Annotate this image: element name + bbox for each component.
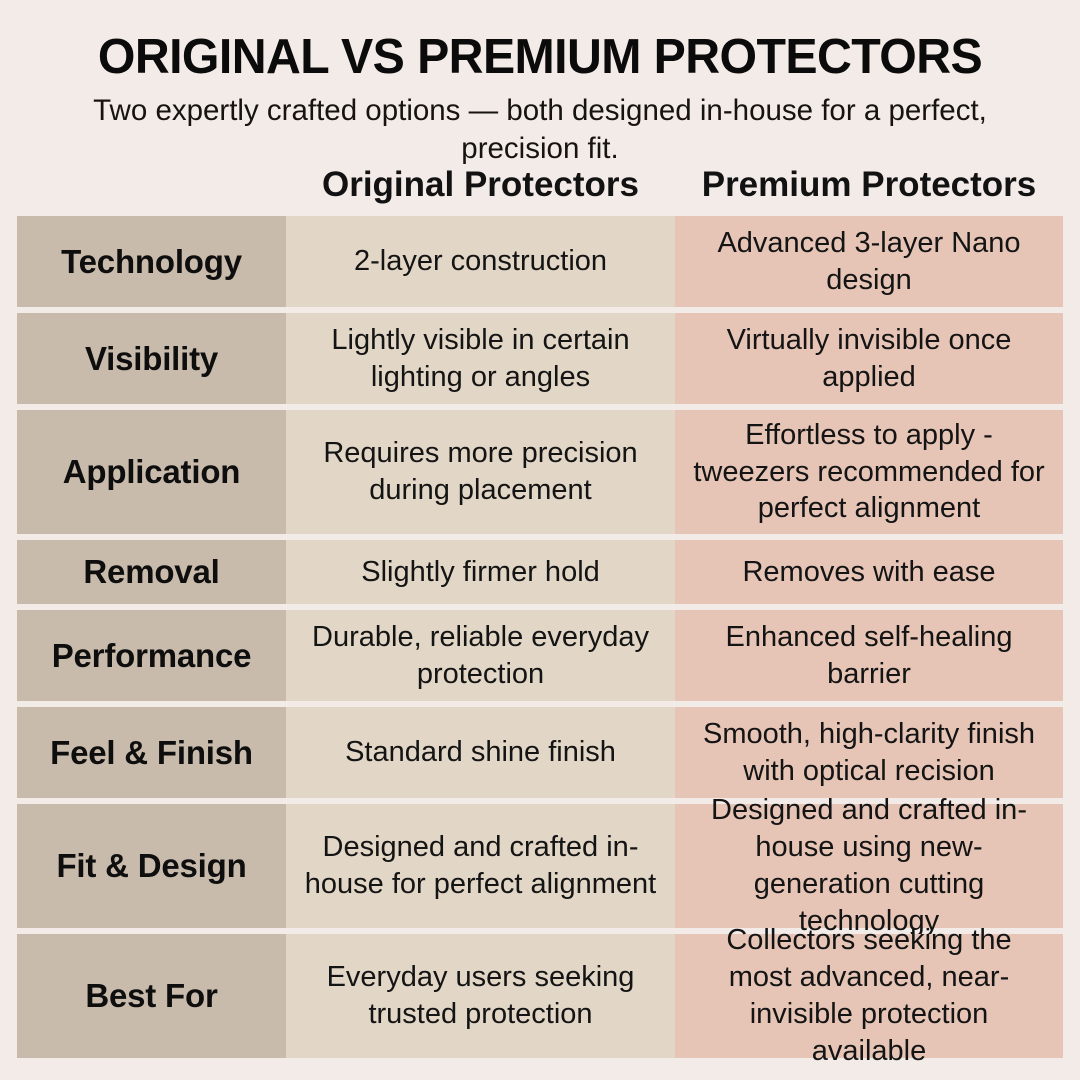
header-block: ORIGINAL VS PREMIUM PROTECTORS Two exper…: [0, 0, 1080, 167]
feature-label-performance: Performance: [17, 610, 286, 701]
original-value-feel-and-finish: Standard shine finish: [286, 707, 675, 798]
premium-value-best-for: Collectors seeking the most advanced, ne…: [675, 934, 1063, 1058]
premium-value-feel-and-finish: Smooth, high-clarity finish with optical…: [675, 707, 1063, 798]
column-header-original: Original Protectors: [286, 166, 675, 209]
feature-label-technology: Technology: [17, 216, 286, 307]
table-row: Feel & Finish Standard shine finish Smoo…: [17, 707, 1063, 798]
premium-value-visibility: Virtually invisible once applied: [675, 313, 1063, 404]
feature-label-removal: Removal: [17, 540, 286, 604]
feature-label-best-for: Best For: [17, 934, 286, 1058]
table-row: Removal Slightly firmer hold Removes wit…: [17, 540, 1063, 604]
feature-label-visibility: Visibility: [17, 313, 286, 404]
comparison-table: Technology 2-layer construction Advanced…: [17, 216, 1063, 1058]
table-row: Technology 2-layer construction Advanced…: [17, 216, 1063, 307]
table-row: Application Requires more precision duri…: [17, 410, 1063, 534]
original-value-removal: Slightly firmer hold: [286, 540, 675, 604]
original-value-performance: Durable, reliable everyday protection: [286, 610, 675, 701]
premium-value-performance: Enhanced self-healing barrier: [675, 610, 1063, 701]
page-subtitle: Two expertly crafted options — both desi…: [60, 92, 1020, 168]
original-value-visibility: Lightly visible in certain lighting or a…: [286, 313, 675, 404]
original-value-fit-and-design: Designed and crafted in-house for perfec…: [286, 804, 675, 928]
premium-value-fit-and-design: Designed and crafted in-house using new-…: [675, 804, 1063, 928]
premium-value-removal: Removes with ease: [675, 540, 1063, 604]
column-header-spacer: [17, 166, 286, 209]
table-row: Best For Everyday users seeking trusted …: [17, 934, 1063, 1058]
feature-label-application: Application: [17, 410, 286, 534]
table-row: Visibility Lightly visible in certain li…: [17, 313, 1063, 404]
original-value-application: Requires more precision during placement: [286, 410, 675, 534]
feature-label-fit-and-design: Fit & Design: [17, 804, 286, 928]
column-header-row: Original Protectors Premium Protectors: [17, 166, 1063, 209]
comparison-infographic: ORIGINAL VS PREMIUM PROTECTORS Two exper…: [0, 0, 1080, 1080]
premium-value-technology: Advanced 3-layer Nano design: [675, 216, 1063, 307]
original-value-best-for: Everyday users seeking trusted protectio…: [286, 934, 675, 1058]
feature-label-feel-and-finish: Feel & Finish: [17, 707, 286, 798]
page-title: ORIGINAL VS PREMIUM PROTECTORS: [36, 32, 1045, 83]
premium-value-application: Effortless to apply - tweezers recommend…: [675, 410, 1063, 534]
table-row: Fit & Design Designed and crafted in-hou…: [17, 804, 1063, 928]
column-header-premium: Premium Protectors: [675, 166, 1063, 209]
table-row: Performance Durable, reliable everyday p…: [17, 610, 1063, 701]
original-value-technology: 2-layer construction: [286, 216, 675, 307]
